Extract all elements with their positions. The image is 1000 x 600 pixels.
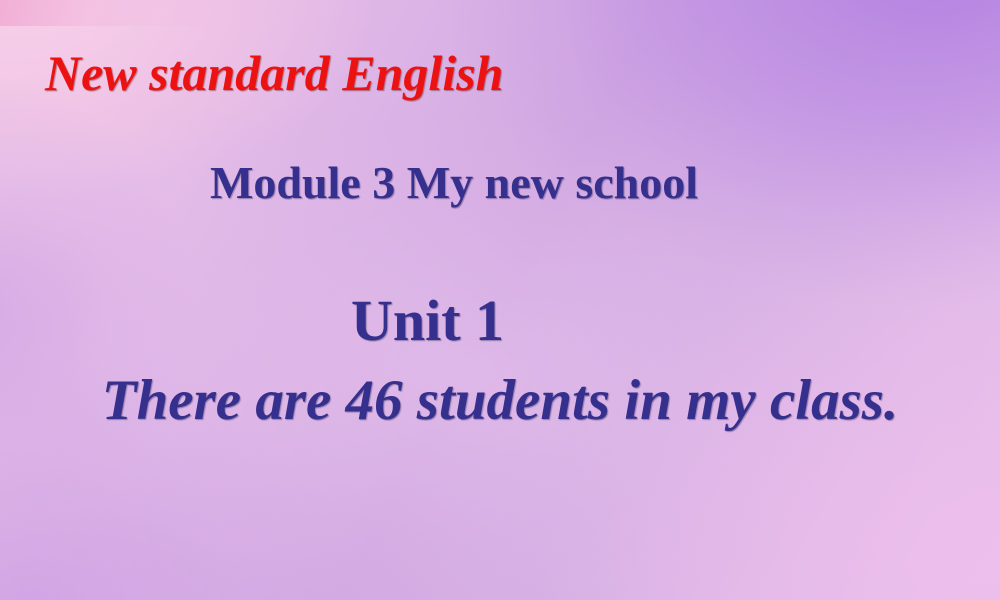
- module-heading: Module 3 My new school: [0, 160, 1000, 206]
- unit-heading: Unit 1: [0, 292, 1000, 350]
- lesson-sentence: There are 46 students in my class.: [0, 372, 1000, 429]
- background-streak-top: [0, 0, 1000, 26]
- presentation-slide: New standard English Module 3 My new sch…: [0, 0, 1000, 600]
- course-title: New standard English: [45, 48, 503, 98]
